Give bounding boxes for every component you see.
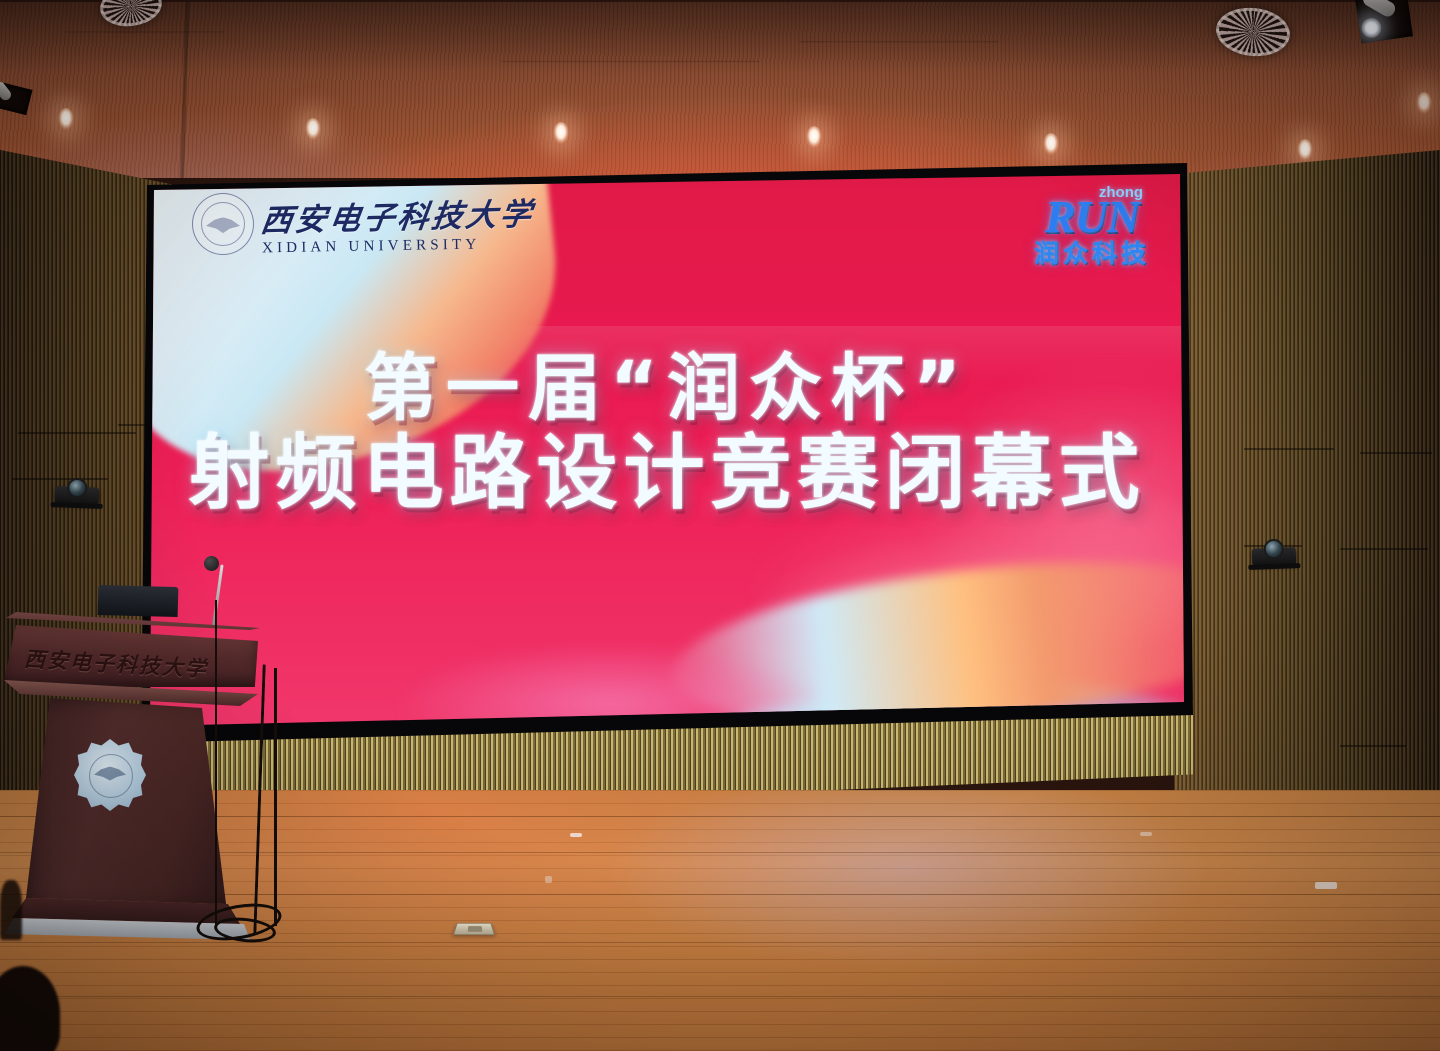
xidian-logo: 西安电子科技大学 XIDIAN UNIVERSITY [192,192,534,255]
floor-speck [1140,832,1152,836]
ceiling-spotlight-slot [1355,0,1413,43]
led-screen: 西安电子科技大学 XIDIAN UNIVERSITY RUN zhong 润众科… [150,174,1184,726]
screen-headline: 第一届“润众杯” 射频电路设计竞赛闭幕式 [150,352,1184,517]
presenter-laptop [98,585,179,617]
ceiling-downlight [1416,92,1432,114]
runzhong-logo: RUN zhong 润众科技 [1034,194,1150,267]
ceiling-downlight [305,118,321,140]
audience-silhouette [0,880,22,940]
runzhong-chinese: 润众科技 [1034,242,1150,267]
floor-speck [545,876,552,883]
xidian-seal-icon [192,193,254,255]
ptz-camera [55,486,100,505]
podium-engraved-text: 西安电子科技大学 [23,643,234,685]
floor-speck [1315,882,1337,889]
headline-line-2: 射频电路设计竞赛闭幕式 [150,432,1184,516]
microphone-icon [204,556,219,571]
auditorium-scene: 西安电子科技大学 XIDIAN UNIVERSITY RUN zhong 润众科… [0,0,1440,1051]
ptz-camera [1252,547,1297,566]
stage-floor-socket [453,923,495,935]
runzhong-superscript: zhong [1099,184,1143,201]
ceiling-downlight [1043,133,1059,155]
ceiling-downlight [1297,139,1313,161]
headline-line-1: 第一届“润众杯” [150,352,1184,426]
ceiling-downlight [553,122,569,144]
xidian-logo-chinese: 西安电子科技大学 [259,188,538,240]
floor-speck [570,833,582,837]
ceiling-downlight [58,108,74,130]
xidian-logo-english: XIDIAN UNIVERSITY [262,236,534,258]
ceiling-downlight [806,126,822,148]
